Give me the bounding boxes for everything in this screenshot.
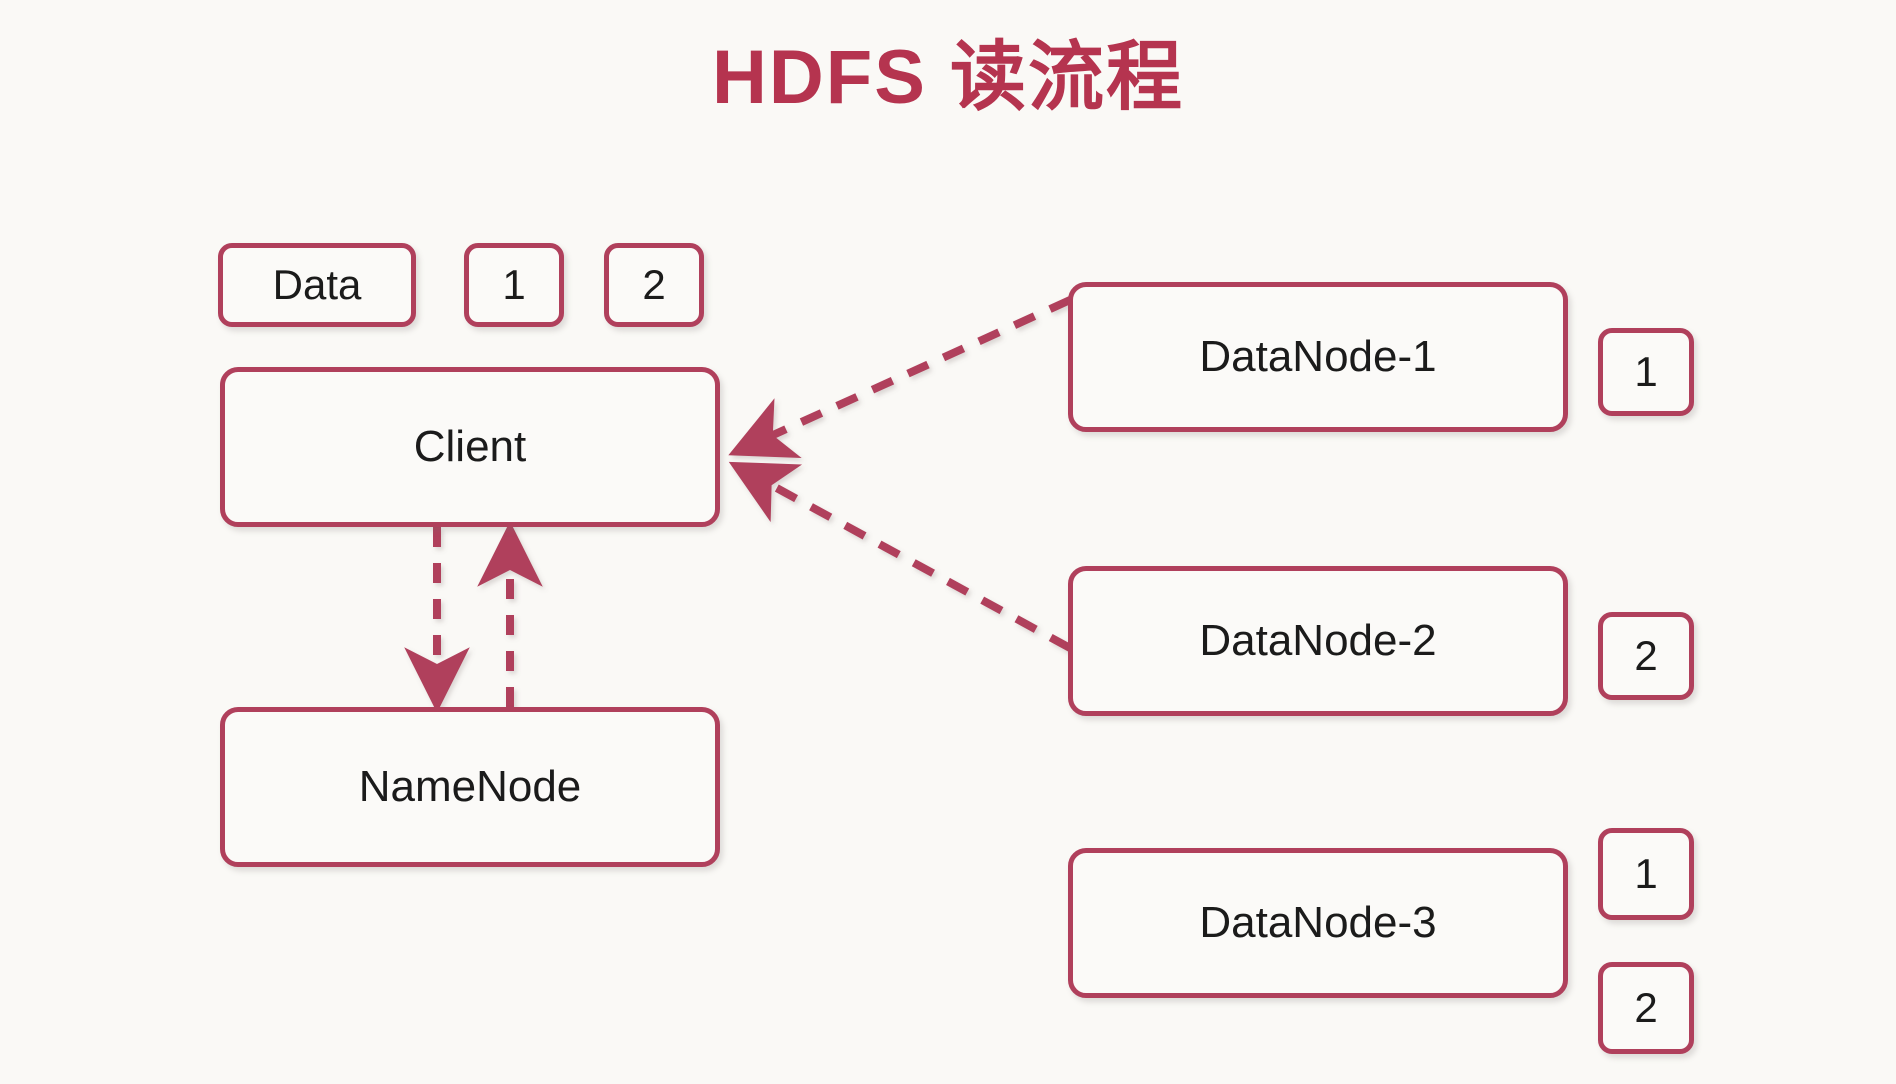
diagram-canvas: HDFS 读流程 Data 1 2 [0, 0, 1896, 1084]
node-namenode-label: NameNode [359, 765, 582, 809]
chip-sequence-2[interactable]: 2 [604, 243, 704, 327]
badge-datanode-3-block-1-label: 1 [1634, 853, 1657, 895]
node-namenode[interactable]: NameNode [220, 707, 720, 867]
badge-datanode-3-block-1[interactable]: 1 [1598, 828, 1694, 920]
chip-data-label: Data [273, 264, 362, 306]
badge-datanode-3-block-2-label: 2 [1634, 987, 1657, 1029]
connector-datanode1-to-client [740, 300, 1070, 450]
node-datanode-2[interactable]: DataNode-2 [1068, 566, 1568, 716]
node-datanode-3[interactable]: DataNode-3 [1068, 848, 1568, 998]
node-datanode-1-label: DataNode-1 [1199, 335, 1436, 379]
badge-datanode-1-block-1[interactable]: 1 [1598, 328, 1694, 416]
page-title: HDFS 读流程 [0, 38, 1896, 118]
badge-datanode-3-block-2[interactable]: 2 [1598, 962, 1694, 1054]
badge-datanode-2-block-2[interactable]: 2 [1598, 612, 1694, 700]
node-datanode-1[interactable]: DataNode-1 [1068, 282, 1568, 432]
node-client[interactable]: Client [220, 367, 720, 527]
chip-sequence-2-label: 2 [642, 264, 665, 306]
node-datanode-3-label: DataNode-3 [1199, 901, 1436, 945]
chip-sequence-1[interactable]: 1 [464, 243, 564, 327]
connector-datanode2-to-client [740, 468, 1070, 648]
node-datanode-2-label: DataNode-2 [1199, 619, 1436, 663]
chip-sequence-1-label: 1 [502, 264, 525, 306]
badge-datanode-1-block-1-label: 1 [1634, 351, 1657, 393]
badge-datanode-2-block-2-label: 2 [1634, 635, 1657, 677]
connector-layer [0, 0, 1896, 1084]
chip-data[interactable]: Data [218, 243, 416, 327]
node-client-label: Client [414, 425, 527, 469]
